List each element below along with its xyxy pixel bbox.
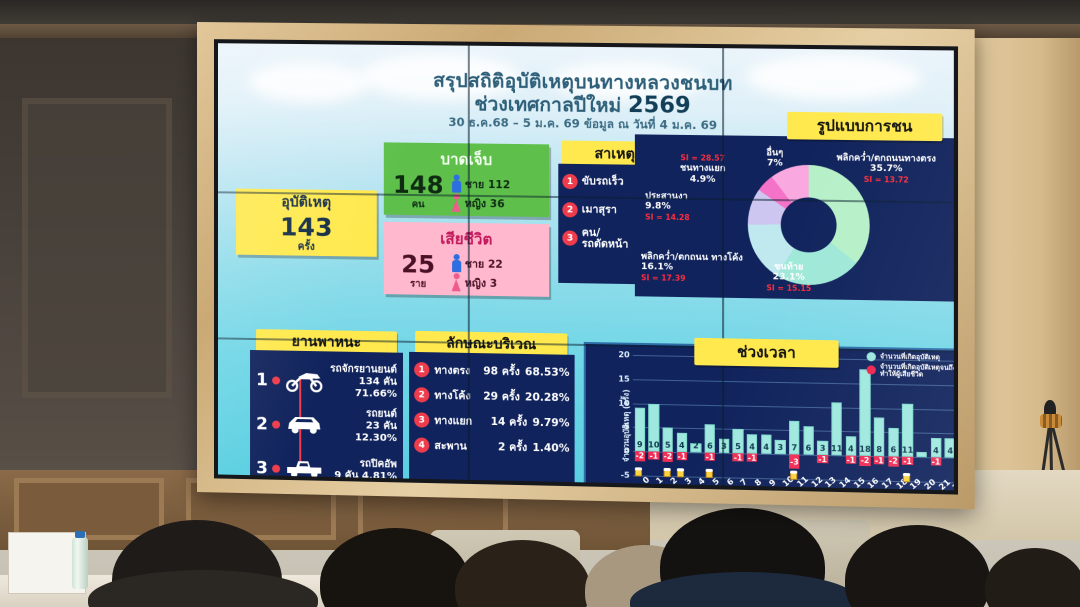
bar-fatal-accidents: -1 bbox=[733, 453, 743, 461]
legend-color-dot bbox=[867, 352, 876, 361]
bar-accidents: 5 bbox=[733, 429, 743, 453]
legend-entry: จำนวนที่เกิดอุบัติเหตุจนถึงทำให้ผู้เสียช… bbox=[867, 363, 954, 379]
bar-value-label: -2 bbox=[889, 457, 898, 466]
bar-value-label: 4 bbox=[763, 443, 769, 452]
time-chart-legend: จำนวนที่เกิดอุบัติเหตุจำนวนที่เกิดอุบัติ… bbox=[867, 352, 954, 379]
video-wall: สรุปสถิติอุบัติเหตุบนทางหลวงชนบท ช่วงเทศ… bbox=[197, 22, 975, 509]
grid-line bbox=[633, 379, 954, 386]
bar-fatal-accidents: -1 bbox=[649, 452, 659, 460]
kpi-injured-label: บาดเจ็บ bbox=[390, 146, 543, 172]
bar-value-label: -1 bbox=[650, 451, 659, 460]
bar-accidents bbox=[917, 452, 928, 457]
donut-segment-label: ชนท้าย23.1%SI = 15.15 bbox=[766, 262, 811, 294]
y-axis-tick: 10 bbox=[618, 398, 629, 407]
location-count: 98 ครั้ง bbox=[482, 362, 520, 380]
bar-value-label: 9 bbox=[637, 440, 643, 449]
kpi-deaths-value: 25 bbox=[390, 252, 447, 277]
bar-fatal-accidents: -2 bbox=[635, 451, 645, 461]
x-axis-tick: 21 bbox=[937, 478, 952, 491]
kpi-accidents-unit: ครั้ง bbox=[298, 239, 315, 254]
bar-value-label: -1 bbox=[678, 452, 687, 461]
bar-fatal-accidents: -1 bbox=[874, 456, 884, 464]
bar-value-label: -2 bbox=[636, 452, 645, 461]
bar-accidents: 4 bbox=[761, 435, 771, 455]
bar-fatal-accidents: -1 bbox=[677, 452, 687, 460]
bar-value-label: -1 bbox=[748, 453, 757, 462]
vehicle-rank: 1 bbox=[256, 370, 268, 390]
location-count: 2 ครั้ง bbox=[486, 438, 527, 456]
bar-accidents: 7 bbox=[789, 421, 799, 455]
bar-value-label: 4 bbox=[848, 445, 854, 454]
x-axis-tick: 13 bbox=[823, 475, 838, 489]
bar-accidents: 3 bbox=[775, 440, 785, 455]
alcohol-marker-icon bbox=[663, 468, 672, 477]
bar-value-label: 4 bbox=[679, 441, 685, 450]
bar-fatal-accidents: -1 bbox=[902, 457, 912, 465]
location-row: 3ทางแยก14 ครั้ง9.79% bbox=[414, 411, 569, 431]
title-year: 2569 bbox=[628, 93, 691, 119]
legend-entry: จำนวนที่เกิดอุบัติเหตุ bbox=[867, 352, 954, 363]
y-axis-tick: 0 bbox=[624, 447, 630, 456]
rank-badge: 1 bbox=[414, 362, 429, 377]
locations-panel: 1ทางตรง98 ครั้ง68.53%2ทางโค้ง29 ครั้ง20.… bbox=[409, 352, 575, 491]
location-row: 2ทางโค้ง29 ครั้ง20.28% bbox=[414, 386, 569, 406]
donut-segment-label: อื่นๆ7% bbox=[766, 148, 783, 169]
location-pct: 9.79% bbox=[532, 416, 569, 429]
bar-accidents: 6 bbox=[888, 427, 898, 456]
rank-dot bbox=[272, 421, 280, 429]
y-axis-tick: -5 bbox=[621, 471, 630, 480]
x-axis-tick: 16 bbox=[866, 476, 881, 490]
bar-value-label: -3 bbox=[790, 457, 799, 466]
kpi-deaths-male: ชาย 22 bbox=[465, 255, 503, 273]
bar-value-label: 6 bbox=[707, 442, 713, 451]
donut-segment-label: พลิกคว่ำ/ตกถนนทางตรง35.7%SI = 13.72 bbox=[837, 153, 936, 186]
bar-accidents: 9 bbox=[635, 408, 645, 452]
vehicle-row: 1รถจักรยานยนต์134 คัน 71.66% bbox=[256, 358, 397, 405]
legend-label: จำนวนที่เกิดอุบัติเหตุ bbox=[880, 353, 940, 361]
time-chart-section-title: ช่วงเวลา bbox=[694, 338, 838, 368]
motorcycle-icon bbox=[284, 368, 324, 395]
location-row: 1ทางตรง98 ครั้ง68.53% bbox=[414, 361, 569, 381]
bar-accidents: 6 bbox=[705, 424, 715, 453]
bar-accidents: 4 bbox=[945, 438, 954, 458]
location-pct: 1.40% bbox=[532, 441, 569, 454]
bar-value-label: 4 bbox=[947, 447, 953, 456]
kpi-accidents: อุบัติเหตุ 143 ครั้ง bbox=[236, 189, 377, 257]
bar-fatal-accidents: -1 bbox=[931, 457, 942, 465]
bar-value-label: -1 bbox=[818, 455, 827, 464]
location-count: 14 ครั้ง bbox=[486, 413, 527, 431]
x-axis-tick: 22 bbox=[951, 478, 954, 491]
bar-fatal-accidents: -1 bbox=[817, 455, 827, 463]
kpi-accidents-value: 143 bbox=[280, 214, 332, 240]
bar-fatal-accidents: -2 bbox=[888, 457, 898, 467]
crash-type-panel: พลิกคว่ำ/ตกถนนทางตรง35.7%SI = 13.72ชนท้า… bbox=[635, 134, 954, 302]
kpi-deaths-label: เสียชีวิต bbox=[390, 226, 543, 252]
bar-value-label: 5 bbox=[735, 442, 741, 451]
bar-fatal-accidents: -3 bbox=[789, 455, 799, 470]
location-row: 4สะพาน2 ครั้ง1.40% bbox=[414, 436, 569, 456]
rank-badge: 1 bbox=[562, 174, 577, 189]
bar-value-label: 6 bbox=[890, 445, 896, 454]
x-axis-tick: 20 bbox=[922, 477, 937, 490]
x-axis-tick: 17 bbox=[880, 476, 895, 490]
vehicle-row: 2รถยนต์23 คัน 12.30% bbox=[256, 402, 397, 449]
rank-badge: 4 bbox=[414, 437, 429, 452]
vehicle-text: รถยนต์23 คัน 12.30% bbox=[328, 408, 397, 446]
kpi-injured: บาดเจ็บ 148 คน ชาย 112 bbox=[384, 142, 549, 217]
bar-value-label: -1 bbox=[903, 456, 912, 465]
bar-value-label: -1 bbox=[847, 455, 856, 464]
bar-value-label: 4 bbox=[933, 446, 939, 455]
bar-fatal-accidents: -1 bbox=[846, 456, 856, 464]
water-bottle bbox=[72, 537, 88, 589]
donut-segment-label: ประสานงา9.8%SI = 14.28 bbox=[645, 191, 690, 223]
alcohol-marker-icon bbox=[903, 473, 912, 482]
male-icon bbox=[452, 174, 461, 192]
location-name: สะพาน bbox=[434, 437, 481, 455]
bar-accidents: 2 bbox=[691, 443, 701, 453]
bar-fatal-accidents: -1 bbox=[705, 453, 715, 461]
bar-accidents: 5 bbox=[663, 428, 673, 452]
bar-value-label: -1 bbox=[706, 452, 715, 461]
bar-accidents: 18 bbox=[860, 369, 870, 456]
video-wall-seam bbox=[468, 46, 470, 480]
bar-value-label: 18 bbox=[859, 445, 871, 454]
bar-value-label: 3 bbox=[820, 444, 826, 453]
vehicle-text: รถปิคอัพ9 คัน 4.81% bbox=[328, 458, 397, 484]
female-icon bbox=[452, 273, 461, 291]
bar-accidents: 11 bbox=[832, 402, 842, 455]
bar-value-label: -1 bbox=[875, 456, 884, 465]
location-name: ทางตรง bbox=[434, 361, 477, 379]
bar-value-label: 11 bbox=[902, 446, 914, 455]
bar-fatal-accidents: -2 bbox=[860, 456, 870, 466]
bar-value-label: 11 bbox=[831, 444, 843, 453]
bar-accidents: 4 bbox=[846, 436, 856, 456]
rank-dot bbox=[272, 465, 280, 473]
location-pct: 68.53% bbox=[525, 366, 570, 379]
y-axis-tick: 20 bbox=[618, 350, 629, 359]
alcohol-marker-icon bbox=[677, 468, 686, 477]
bar-accidents: 6 bbox=[803, 426, 813, 455]
legend-label: จำนวนที่เกิดอุบัติเหตุจนถึงทำให้ผู้เสียช… bbox=[880, 364, 954, 380]
bar-value-label: 5 bbox=[665, 441, 671, 450]
kpi-deaths: เสียชีวิต 25 ราย ชาย 22 bbox=[384, 222, 549, 297]
pickup-icon bbox=[284, 456, 324, 483]
bar-value-label: -1 bbox=[734, 453, 743, 462]
video-wall-seam bbox=[722, 48, 724, 485]
alcohol-marker-icon bbox=[705, 469, 714, 478]
bar-value-label: -2 bbox=[664, 452, 673, 461]
left-wall-panel bbox=[0, 38, 215, 500]
location-name: ทางแยก bbox=[434, 412, 481, 430]
location-name: ทางโค้ง bbox=[434, 387, 477, 405]
legend-color-dot bbox=[867, 366, 876, 375]
bar-accidents: 3 bbox=[817, 441, 827, 456]
bar-accidents: 10 bbox=[649, 403, 659, 451]
alcohol-marker-icon bbox=[790, 471, 799, 480]
title-festival-text: ช่วงเทศกาลปีใหม่ bbox=[474, 93, 628, 117]
bar-value-label: 3 bbox=[777, 443, 783, 452]
tv-wooden-frame: สรุปสถิติอุบัติเหตุบนทางหลวงชนบท ช่วงเทศ… bbox=[197, 22, 975, 509]
bar-value-label: 6 bbox=[806, 444, 812, 453]
vehicle-text: รถจักรยานยนต์134 คัน 71.66% bbox=[328, 363, 397, 400]
location-pct: 20.28% bbox=[525, 391, 570, 404]
bar-accidents: 8 bbox=[874, 417, 884, 456]
y-axis-tick: 5 bbox=[624, 422, 630, 431]
rank-badge: 3 bbox=[414, 412, 429, 427]
bar-value-label: 4 bbox=[749, 443, 755, 452]
alcohol-marker-icon bbox=[635, 467, 644, 476]
bar-value-label: 10 bbox=[648, 440, 659, 449]
donut-segment-label: SI = 28.57ชนทางแยก4.9% bbox=[680, 153, 725, 185]
left-wall-inset bbox=[22, 98, 172, 398]
vehicles-panel: 1รถจักรยานยนต์134 คัน 71.66%2รถยนต์23 คั… bbox=[250, 350, 403, 490]
time-chart-x-axis-label: เวลา bbox=[586, 490, 954, 491]
bar-value-label: 7 bbox=[791, 443, 797, 452]
bar-value-label: -2 bbox=[861, 456, 870, 465]
bar-accidents: 4 bbox=[677, 433, 687, 452]
bar-fatal-accidents: -1 bbox=[747, 454, 757, 462]
rank-badge: 2 bbox=[414, 387, 429, 402]
x-axis-tick: 14 bbox=[837, 475, 852, 489]
rank-badge: 3 bbox=[562, 231, 577, 246]
male-icon bbox=[452, 254, 461, 272]
bar-value-label: 2 bbox=[693, 441, 699, 450]
car-icon bbox=[284, 412, 324, 439]
tv-bezel: สรุปสถิติอุบัติเหตุบนทางหลวงชนบท ช่วงเทศ… bbox=[214, 39, 958, 494]
location-count: 29 ครั้ง bbox=[482, 387, 520, 405]
rank-dot bbox=[272, 376, 280, 384]
bar-fatal-accidents: -2 bbox=[663, 452, 673, 462]
vehicle-rank: 3 bbox=[256, 458, 268, 478]
rank-badge: 2 bbox=[562, 202, 577, 217]
bar-accidents: 4 bbox=[931, 438, 942, 458]
bar-accidents: 4 bbox=[747, 434, 757, 454]
bar-value-label: -1 bbox=[932, 457, 941, 466]
bar-value-label: 8 bbox=[876, 445, 882, 454]
donut-segment-label: พลิกคว่ำ/ตกถนน ทางโค้ง16.1%SI = 17.39 bbox=[641, 252, 743, 285]
bar-accidents: 11 bbox=[902, 403, 912, 457]
vehicle-rank: 2 bbox=[256, 414, 268, 434]
vehicle-row: 3รถปิคอัพ9 คัน 4.81% bbox=[256, 446, 397, 490]
crash-type-section-title: รูปแบบการชน bbox=[787, 112, 942, 141]
dashboard-screen: สรุปสถิติอุบัติเหตุบนทางหลวงชนบท ช่วงเทศ… bbox=[218, 43, 954, 490]
kpi-injured-male: ชาย 112 bbox=[465, 175, 510, 193]
y-axis-tick: 15 bbox=[618, 374, 629, 383]
kpi-deaths-unit: ราย bbox=[390, 276, 447, 292]
